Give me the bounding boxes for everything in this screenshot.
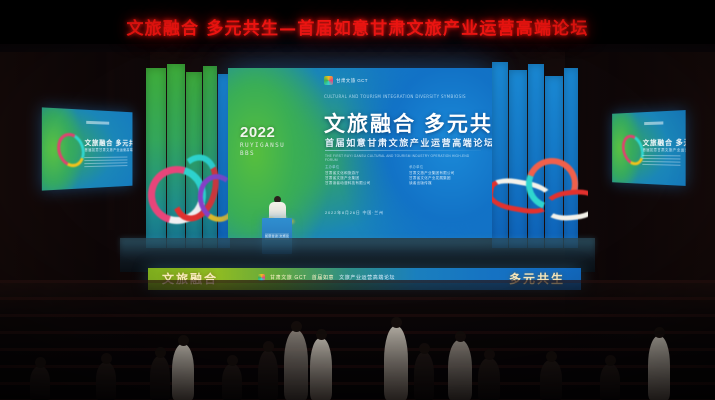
led-strip <box>492 62 508 248</box>
audience-head <box>291 321 302 332</box>
audience-head <box>654 327 665 338</box>
audience-person <box>310 338 332 400</box>
brand-mark-icon <box>324 76 333 85</box>
organizer-lines: 甘肃文旅产业集团有限公司 甘肃省文化产业发展集团 读者出版传媒 <box>409 171 483 186</box>
stage-floor <box>120 238 595 272</box>
audience-head <box>419 343 430 354</box>
audience-head <box>484 349 495 360</box>
audience-head <box>178 335 189 346</box>
led-strip <box>509 70 527 248</box>
audience-head <box>391 317 402 328</box>
audience-person <box>414 352 434 400</box>
audience-head <box>155 347 166 358</box>
audience-person <box>222 364 242 400</box>
organizer-lines: 甘肃省文化和旅游厅 甘肃省文旅产业集团 甘肃读者动漫科技有限公司 <box>325 171 399 186</box>
side-screen-subtitle: 首届如意甘肃文旅产业运营高端论坛 <box>643 146 686 151</box>
audience-head <box>227 355 238 366</box>
side-screen-left: 文旅融合 多元共生 首届如意甘肃文旅产业运营高端论坛 <box>42 107 133 190</box>
audience-head <box>546 351 557 362</box>
organizer-column: 主办单位 甘肃省文化和旅游厅 甘肃省文旅产业集团 甘肃读者动漫科技有限公司 <box>325 164 399 186</box>
backdrop-title: 文旅融合 多元共生 <box>324 108 492 138</box>
side-screen-logo-bar <box>644 121 663 125</box>
organizer-heading: 承办单位 <box>409 164 483 169</box>
side-screen-logo-bar <box>86 121 109 125</box>
audience-person <box>284 330 308 400</box>
stage-photo: 文旅融合 多元共生—首届如意甘肃文旅产业运营高端论坛 2022 RUYIGANS… <box>0 0 715 400</box>
auditorium-seating-area <box>0 280 715 400</box>
led-strip <box>564 68 578 248</box>
side-screen-detail-block <box>85 156 128 169</box>
led-banner-text: 文旅融合 多元共生—首届如意甘肃文旅产业运营高端论坛 <box>126 14 588 39</box>
side-screen-right: 文旅融合 多元共生 首届如意甘肃文旅产业运营高端论坛 <box>612 110 685 186</box>
backdrop-organizer-columns: 主办单位 甘肃省文化和旅游厅 甘肃省文旅产业集团 甘肃读者动漫科技有限公司 承办… <box>325 164 483 186</box>
audience-person <box>478 358 500 400</box>
led-strip-panels-right <box>492 62 588 248</box>
backdrop-year-subtext: RUYIGANSU BBS <box>240 142 285 158</box>
audience-person <box>172 344 194 400</box>
backdrop-divider <box>325 150 481 151</box>
audience-person <box>648 336 670 400</box>
organizer-heading: 主办单位 <box>325 164 399 169</box>
audience-person <box>30 366 50 400</box>
brand-logo-text: 甘肃文旅 GCT <box>336 78 368 84</box>
audience-person <box>384 326 408 400</box>
audience-person <box>258 350 278 400</box>
audience-head <box>263 341 274 352</box>
audience-head <box>605 355 616 366</box>
audience-head <box>101 353 112 364</box>
audience-person <box>150 356 170 400</box>
audience-person <box>448 340 472 400</box>
audience-head <box>316 329 327 340</box>
side-screen-subtitle: 首届如意甘肃文旅产业运营高端论坛 <box>85 147 133 152</box>
led-banner: 文旅融合 多元共生—首届如意甘肃文旅产业运营高端论坛 <box>0 8 715 44</box>
side-screen-detail-block <box>643 155 681 167</box>
led-strip <box>528 64 544 248</box>
backdrop-english-line: CULTURAL AND TOURISM INTEGRATION DIVERSI… <box>324 94 482 100</box>
backdrop-date-line: 2022年8月26日 中国·兰州 <box>325 210 384 216</box>
backdrop-subtitle: 首届如意甘肃文旅产业运营高端论坛 <box>325 136 492 149</box>
led-strip-panels-left <box>146 62 230 248</box>
audience-person <box>540 360 562 400</box>
backdrop-year: 2022 <box>240 124 275 141</box>
organizer-column: 承办单位 甘肃文旅产业集团有限公司 甘肃省文化产业发展集团 读者出版传媒 <box>409 164 483 186</box>
audience-person <box>600 364 620 400</box>
audience-head <box>455 331 466 342</box>
audience-head <box>35 357 46 368</box>
backdrop-brand-logo: 甘肃文旅 GCT <box>324 76 368 85</box>
backdrop-micro-line: THE FIRST RUYI GANSU CULTURAL AND TOURIS… <box>325 154 483 163</box>
stage-floor-reflection <box>120 238 595 260</box>
audience-person <box>96 362 116 400</box>
